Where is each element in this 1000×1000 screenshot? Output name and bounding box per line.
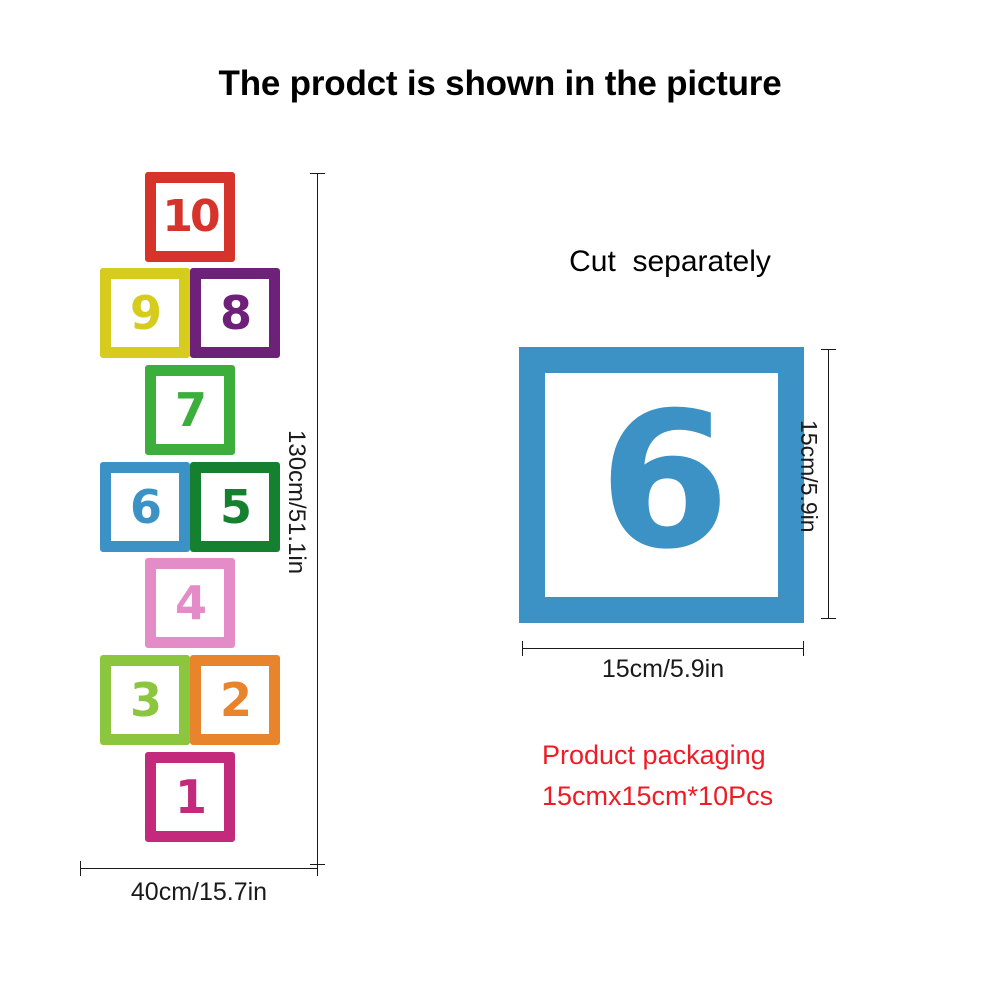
hopscotch-tile-inner: 2 — [201, 666, 269, 734]
hopscotch-tile-inner: 5 — [201, 473, 269, 541]
single-tile-width-dimension-line — [522, 648, 804, 649]
hopscotch-row: 10 — [107, 172, 273, 262]
hopscotch-row: 1 — [107, 752, 273, 842]
hopscotch-diagram: 10987654321 — [60, 160, 360, 900]
hopscotch-tile-inner: 4 — [156, 569, 224, 637]
cut-separately-heading: Cut separately — [500, 245, 840, 279]
hopscotch-tile-inner: 10 — [156, 183, 224, 251]
hopscotch-tile-10: 10 — [145, 172, 235, 262]
single-tile-height-label: 15cm/5.9in — [795, 420, 822, 533]
hopscotch-tile-digit: 5 — [220, 484, 250, 530]
hopscotch-tile-inner: 1 — [156, 763, 224, 831]
hopscotch-tile-digit: 10 — [162, 195, 217, 239]
single-tile-height-dimension-line — [828, 349, 829, 619]
hopscotch-tile-6: 6 — [100, 462, 190, 552]
hopscotch-tile-3: 3 — [100, 655, 190, 745]
hopscotch-row: 98 — [60, 268, 320, 358]
single-tile-inner: 6 — [545, 373, 778, 597]
hopscotch-row: 65 — [60, 462, 320, 552]
single-tile-digit: 6 — [599, 388, 724, 576]
hopscotch-row: 4 — [107, 558, 273, 648]
packaging-note-line-2: 15cmx15cm*10Pcs — [542, 776, 773, 817]
hopscotch-tile-digit: 1 — [175, 774, 205, 820]
hopscotch-tile-inner: 8 — [201, 279, 269, 347]
hopscotch-height-label: 130cm/51.1in — [282, 430, 310, 574]
hopscotch-tile-digit: 7 — [175, 387, 205, 433]
single-tile-sample: 6 — [519, 347, 804, 623]
hopscotch-tile-inner: 6 — [111, 473, 179, 541]
hopscotch-tile-digit: 9 — [130, 290, 160, 336]
hopscotch-tile-digit: 3 — [130, 677, 160, 723]
hopscotch-tile-9: 9 — [100, 268, 190, 358]
hopscotch-tile-inner: 3 — [111, 666, 179, 734]
hopscotch-width-dimension-line — [80, 868, 318, 869]
hopscotch-tile-inner: 7 — [156, 376, 224, 444]
hopscotch-row: 32 — [60, 655, 320, 745]
hopscotch-tile-2: 2 — [190, 655, 280, 745]
hopscotch-tile-digit: 4 — [175, 580, 205, 626]
hopscotch-tile-1: 1 — [145, 752, 235, 842]
packaging-note: Product packaging 15cmx15cm*10Pcs — [542, 735, 773, 817]
page-title: The prodct is shown in the picture — [0, 64, 1000, 104]
hopscotch-tile-5: 5 — [190, 462, 280, 552]
hopscotch-tile-inner: 9 — [111, 279, 179, 347]
packaging-note-line-1: Product packaging — [542, 735, 773, 776]
single-tile-width-label: 15cm/5.9in — [522, 655, 804, 684]
hopscotch-tile-digit: 8 — [220, 290, 250, 336]
hopscotch-width-label: 40cm/15.7in — [80, 878, 318, 907]
hopscotch-row: 7 — [107, 365, 273, 455]
hopscotch-height-dimension-line — [317, 173, 318, 865]
hopscotch-tile-4: 4 — [145, 558, 235, 648]
hopscotch-tile-digit: 2 — [220, 677, 250, 723]
hopscotch-tile-7: 7 — [145, 365, 235, 455]
hopscotch-tile-digit: 6 — [130, 484, 160, 530]
hopscotch-tile-8: 8 — [190, 268, 280, 358]
